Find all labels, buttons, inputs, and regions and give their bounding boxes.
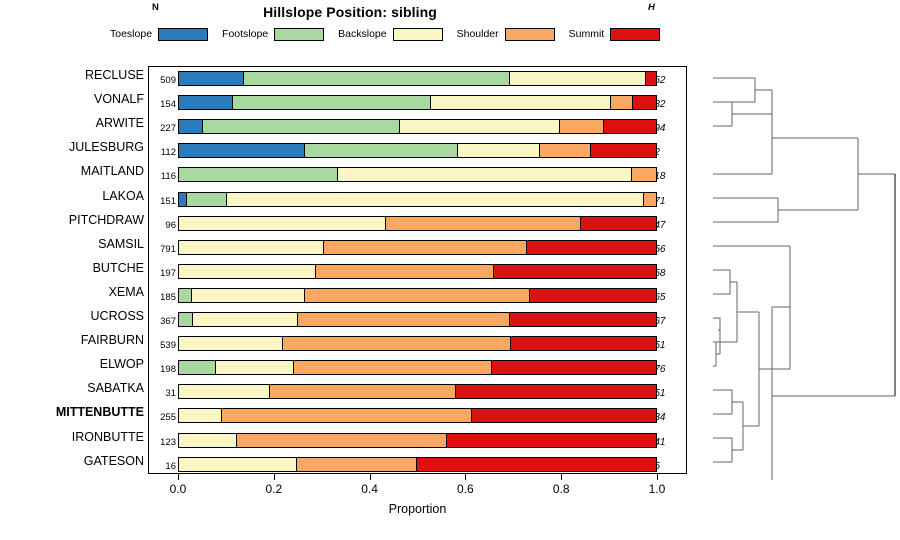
bar-segment-shoulder bbox=[297, 313, 509, 326]
legend-swatch bbox=[158, 28, 208, 41]
bar-segment-summit bbox=[580, 217, 656, 230]
x-tick bbox=[178, 474, 179, 480]
bar-segment-footslope bbox=[186, 193, 225, 206]
bar-segment-shoulder bbox=[282, 337, 510, 350]
bar-segment-shoulder bbox=[315, 265, 493, 278]
bar-segment-backslope bbox=[179, 337, 282, 350]
x-tick bbox=[370, 474, 371, 480]
n-value: 31 bbox=[152, 388, 176, 400]
bar-segment-shoulder bbox=[385, 217, 580, 230]
n-value: 791 bbox=[152, 244, 176, 256]
bar-segment-backslope bbox=[226, 193, 644, 206]
bar-segment-backslope bbox=[179, 385, 269, 398]
legend-label: Backslope bbox=[338, 28, 386, 40]
n-value: 185 bbox=[152, 292, 176, 304]
bar-segment-shoulder bbox=[304, 289, 529, 302]
bar-segment-footslope bbox=[179, 289, 191, 302]
bar-segment-backslope bbox=[179, 458, 296, 471]
stacked-bar bbox=[178, 408, 657, 423]
bar-segment-summit bbox=[526, 241, 656, 254]
n-value: 197 bbox=[152, 268, 176, 280]
bar-segment-shoulder bbox=[559, 120, 604, 133]
n-value: 151 bbox=[152, 196, 176, 208]
n-value: 539 bbox=[152, 340, 176, 352]
stacked-bar bbox=[178, 336, 657, 351]
n-value: 154 bbox=[152, 99, 176, 111]
bar-segment-footslope bbox=[179, 361, 215, 374]
stacked-bar bbox=[178, 384, 657, 399]
x-tick-label: 0.4 bbox=[361, 482, 378, 496]
bar-segment-backslope bbox=[192, 313, 297, 326]
series-label: BUTCHE bbox=[0, 261, 144, 275]
dendrogram-svg bbox=[690, 60, 900, 480]
series-label: ELWOP bbox=[0, 357, 144, 371]
series-label: PITCHDRAW bbox=[0, 213, 144, 227]
legend-label: Footslope bbox=[222, 28, 268, 40]
bar-segment-summit bbox=[455, 385, 656, 398]
stacked-bar bbox=[178, 71, 657, 86]
series-label: UCROSS bbox=[0, 309, 144, 323]
page-title: Hillslope Position: sibling bbox=[0, 4, 700, 20]
stacked-bar bbox=[178, 240, 657, 255]
n-value: 96 bbox=[152, 220, 176, 232]
bar-segment-shoulder bbox=[221, 409, 471, 422]
x-tick bbox=[657, 474, 658, 480]
n-value: 509 bbox=[152, 75, 176, 87]
bar-segment-backslope bbox=[179, 409, 221, 422]
stacked-bar bbox=[178, 119, 657, 134]
bar-segment-footslope bbox=[202, 120, 400, 133]
bar-segment-backslope bbox=[215, 361, 293, 374]
bar-segment-backslope bbox=[430, 96, 610, 109]
series-label: IRONBUTTE bbox=[0, 430, 144, 444]
bar-segment-backslope bbox=[179, 434, 236, 447]
series-label: XEMA bbox=[0, 285, 144, 299]
n-value: 367 bbox=[152, 316, 176, 328]
stacked-bar bbox=[178, 95, 657, 110]
x-tick-label: 0.6 bbox=[457, 482, 474, 496]
bar-segment-summit bbox=[446, 434, 656, 447]
bar-segment-backslope bbox=[191, 289, 303, 302]
series-label: ARWITE bbox=[0, 116, 144, 130]
stacked-bar bbox=[178, 457, 657, 472]
x-tick bbox=[561, 474, 562, 480]
bar-segment-summit bbox=[632, 96, 656, 109]
bar-segment-shoulder bbox=[643, 193, 656, 206]
legend-swatch bbox=[610, 28, 660, 41]
x-tick-label: 1.0 bbox=[649, 482, 666, 496]
x-tick-label: 0.2 bbox=[265, 482, 282, 496]
stacked-bar bbox=[178, 216, 657, 231]
bar-segment-backslope bbox=[179, 265, 315, 278]
n-value: 112 bbox=[152, 147, 176, 159]
bar-segment-shoulder bbox=[236, 434, 446, 447]
x-axis-label: Proportion bbox=[148, 502, 687, 516]
x-tick-label: 0.0 bbox=[170, 482, 187, 496]
series-label: MITTENBUTTE bbox=[0, 405, 144, 419]
x-axis: 0.00.20.40.60.81.0 bbox=[148, 474, 687, 475]
series-label: GATESON bbox=[0, 454, 144, 468]
bar-segment-backslope bbox=[457, 144, 539, 157]
n-value: 198 bbox=[152, 364, 176, 376]
bar-segment-footslope bbox=[232, 96, 430, 109]
chart-root: Hillslope Position: sibling ToeslopeFoot… bbox=[0, 0, 900, 540]
legend-item-toeslope: Toeslope bbox=[110, 28, 208, 41]
bar-segment-toeslope bbox=[179, 120, 202, 133]
bar-segment-shoulder bbox=[323, 241, 526, 254]
stacked-bar bbox=[178, 288, 657, 303]
legend-item-shoulder: Shoulder bbox=[457, 28, 555, 41]
bar-segment-footslope bbox=[179, 168, 337, 181]
bar-segment-shoulder bbox=[293, 361, 491, 374]
stacked-bar bbox=[178, 264, 657, 279]
series-label: JULESBURG bbox=[0, 140, 144, 154]
legend: ToeslopeFootslopeBackslopeShoulderSummit bbox=[110, 26, 720, 42]
series-label: MAITLAND bbox=[0, 164, 144, 178]
legend-label: Shoulder bbox=[457, 28, 499, 40]
bar-segment-summit bbox=[493, 265, 656, 278]
bar-segment-backslope bbox=[179, 241, 323, 254]
series-label: SABATKA bbox=[0, 381, 144, 395]
stacked-bar bbox=[178, 360, 657, 375]
bar-segment-summit bbox=[416, 458, 656, 471]
bar-segment-shoulder bbox=[296, 458, 416, 471]
legend-item-footslope: Footslope bbox=[222, 28, 324, 41]
bar-segment-shoulder bbox=[631, 168, 656, 181]
series-label: VONALF bbox=[0, 92, 144, 106]
bar-segment-summit bbox=[590, 144, 656, 157]
bar-segment-toeslope bbox=[179, 96, 232, 109]
n-value: 255 bbox=[152, 412, 176, 424]
x-tick bbox=[465, 474, 466, 480]
dendrogram bbox=[690, 60, 900, 480]
bar-segment-backslope bbox=[337, 168, 632, 181]
stacked-bar bbox=[178, 143, 657, 158]
legend-label: Toeslope bbox=[110, 28, 152, 40]
series-label: RECLUSE bbox=[0, 68, 144, 82]
bar-segment-shoulder bbox=[610, 96, 632, 109]
bar-segment-backslope bbox=[179, 217, 385, 230]
legend-swatch bbox=[393, 28, 443, 41]
bar-segment-summit bbox=[471, 409, 656, 422]
bar-segment-summit bbox=[491, 361, 656, 374]
n-value: 123 bbox=[152, 437, 176, 449]
series-label: SAMSIL bbox=[0, 237, 144, 251]
bar-segment-summit bbox=[510, 337, 656, 350]
column-header-n: N bbox=[152, 2, 159, 13]
series-label: LAKOA bbox=[0, 189, 144, 203]
column-header-h: H bbox=[648, 2, 655, 13]
stacked-bar bbox=[178, 167, 657, 182]
stacked-bar bbox=[178, 433, 657, 448]
bar-segment-summit bbox=[529, 289, 656, 302]
x-tick bbox=[274, 474, 275, 480]
bar-segment-summit bbox=[509, 313, 656, 326]
n-value: 16 bbox=[152, 461, 176, 473]
bar-segment-toeslope bbox=[179, 144, 304, 157]
stacked-bar bbox=[178, 192, 657, 207]
stacked-bar bbox=[178, 312, 657, 327]
legend-swatch bbox=[274, 28, 324, 41]
bar-segment-summit bbox=[603, 120, 656, 133]
bar-segment-backslope bbox=[399, 120, 558, 133]
legend-label: Summit bbox=[569, 28, 605, 40]
bar-segment-backslope bbox=[509, 72, 645, 85]
bar-segment-footslope bbox=[179, 313, 192, 326]
bar-segment-toeslope bbox=[179, 72, 243, 85]
bar-segment-footslope bbox=[304, 144, 456, 157]
x-tick-label: 0.8 bbox=[553, 482, 570, 496]
bar-segment-shoulder bbox=[539, 144, 590, 157]
n-value: 227 bbox=[152, 123, 176, 135]
legend-item-backslope: Backslope bbox=[338, 28, 442, 41]
bar-segment-toeslope bbox=[179, 193, 186, 206]
bar-segment-footslope bbox=[243, 72, 509, 85]
series-label: FAIRBURN bbox=[0, 333, 144, 347]
legend-item-summit: Summit bbox=[569, 28, 661, 41]
n-value: 116 bbox=[152, 171, 176, 183]
bar-segment-summit bbox=[645, 72, 656, 85]
bar-segment-shoulder bbox=[269, 385, 455, 398]
legend-swatch bbox=[505, 28, 555, 41]
